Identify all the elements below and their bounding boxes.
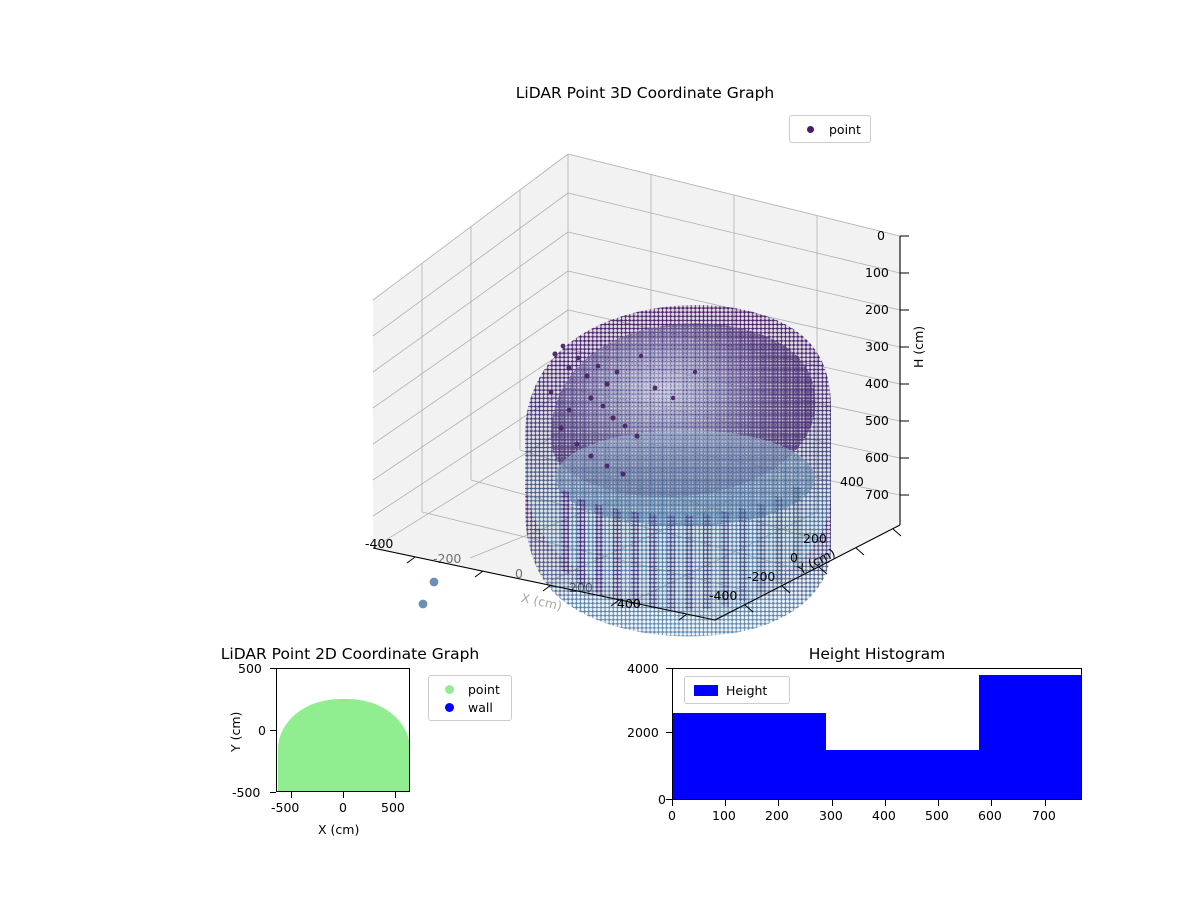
hx-tick-0: 0 bbox=[668, 808, 676, 823]
z-tick-700: 700 bbox=[865, 487, 889, 502]
hy-tickmark-2000 bbox=[666, 732, 672, 733]
hx-tickmark-700 bbox=[1045, 800, 1046, 806]
y-tick-400: 400 bbox=[840, 474, 864, 489]
legend-item-point: point bbox=[797, 120, 863, 138]
point-marker-icon bbox=[436, 685, 462, 694]
legend-label: point bbox=[462, 682, 500, 697]
x-tick--200: -200 bbox=[433, 551, 461, 566]
hy-tick-2000: 2000 bbox=[627, 725, 659, 740]
z-tick-100: 100 bbox=[865, 265, 889, 280]
hx-tick-600: 600 bbox=[978, 808, 1002, 823]
hy-tick-4000: 4000 bbox=[627, 661, 659, 676]
hx-tick-300: 300 bbox=[819, 808, 843, 823]
panel-2d-title: LiDAR Point 2D Coordinate Graph bbox=[160, 645, 540, 663]
y2-axis-label: Y (cm) bbox=[228, 712, 243, 752]
hx-tick-400: 400 bbox=[872, 808, 896, 823]
panel-hist-title: Height Histogram bbox=[672, 645, 1082, 663]
legend-item-wall: wall bbox=[436, 698, 504, 716]
z-tick-600: 600 bbox=[865, 450, 889, 465]
hx-tick-500: 500 bbox=[925, 808, 949, 823]
hx-tickmark-500 bbox=[938, 800, 939, 806]
legend-3d: point bbox=[789, 115, 871, 143]
y-tick--200: -200 bbox=[747, 569, 775, 584]
x-tickmark--500 bbox=[291, 792, 292, 798]
lidar-3d-axes[interactable]: 0 100 200 300 400 500 600 700 H (cm) -40… bbox=[355, 140, 935, 640]
wall-marker-icon bbox=[436, 703, 462, 712]
y2-tick--500: -500 bbox=[232, 785, 260, 800]
lidar-2d-axes[interactable] bbox=[276, 668, 410, 792]
histogram-bar bbox=[979, 675, 1081, 799]
hx-tick-200: 200 bbox=[765, 808, 789, 823]
legend-label: wall bbox=[462, 700, 493, 715]
x-tickmark-500 bbox=[395, 792, 396, 798]
height-swatch-icon bbox=[692, 685, 720, 696]
hx-tick-700: 700 bbox=[1032, 808, 1056, 823]
legend-item-height: Height bbox=[692, 681, 782, 699]
x2-tick-0: 0 bbox=[339, 800, 347, 815]
histogram-bar bbox=[826, 750, 980, 799]
x2-axis-label: X (cm) bbox=[318, 822, 359, 837]
z-tick-300: 300 bbox=[865, 339, 889, 354]
y2-tick-500: 500 bbox=[238, 661, 262, 676]
hx-tickmark-400 bbox=[885, 800, 886, 806]
x-tick-400: 400 bbox=[617, 596, 641, 611]
x2-tick-500: 500 bbox=[381, 800, 405, 815]
z-axis-label: H (cm) bbox=[911, 326, 926, 368]
matplotlib-figure: LiDAR Point 3D Coordinate Graph point bbox=[0, 0, 1200, 900]
hy-tick-0: 0 bbox=[658, 792, 666, 807]
y-tick--400: -400 bbox=[709, 588, 737, 603]
legend-hist: Height bbox=[684, 676, 790, 704]
z-tick-500: 500 bbox=[865, 413, 889, 428]
legend-item-point: point bbox=[436, 680, 504, 698]
y-tickmark-0 bbox=[270, 730, 276, 731]
y2-tick-0: 0 bbox=[258, 723, 266, 738]
point-cloud-2d bbox=[278, 699, 410, 792]
hy-tickmark-4000 bbox=[666, 668, 672, 669]
legend-2d: point wall bbox=[428, 675, 512, 721]
point-marker-icon bbox=[797, 126, 823, 133]
z-tick-400: 400 bbox=[865, 376, 889, 391]
x-tickmark-0 bbox=[343, 792, 344, 798]
y-tickmark-500 bbox=[270, 668, 276, 669]
hx-tickmark-100 bbox=[725, 800, 726, 806]
x2-tick--500: -500 bbox=[271, 800, 299, 815]
x-tick-200: 200 bbox=[569, 580, 593, 595]
y-tick-200: 200 bbox=[803, 531, 827, 546]
x-tick-0: 0 bbox=[515, 566, 523, 581]
hx-tickmark-0 bbox=[672, 800, 673, 806]
hx-tickmark-200 bbox=[778, 800, 779, 806]
legend-label: Height bbox=[720, 683, 767, 698]
y-tickmark--500 bbox=[270, 792, 276, 793]
x-tick--400: -400 bbox=[365, 536, 393, 551]
outlier-points bbox=[419, 578, 439, 609]
z-tick-200: 200 bbox=[865, 302, 889, 317]
panel-3d-title: LiDAR Point 3D Coordinate Graph bbox=[355, 84, 935, 102]
histogram-bar bbox=[673, 713, 826, 799]
hx-tickmark-600 bbox=[991, 800, 992, 806]
hx-tick-100: 100 bbox=[712, 808, 736, 823]
legend-label: point bbox=[823, 122, 861, 137]
z-tick-0: 0 bbox=[877, 228, 885, 243]
hx-tickmark-300 bbox=[832, 800, 833, 806]
